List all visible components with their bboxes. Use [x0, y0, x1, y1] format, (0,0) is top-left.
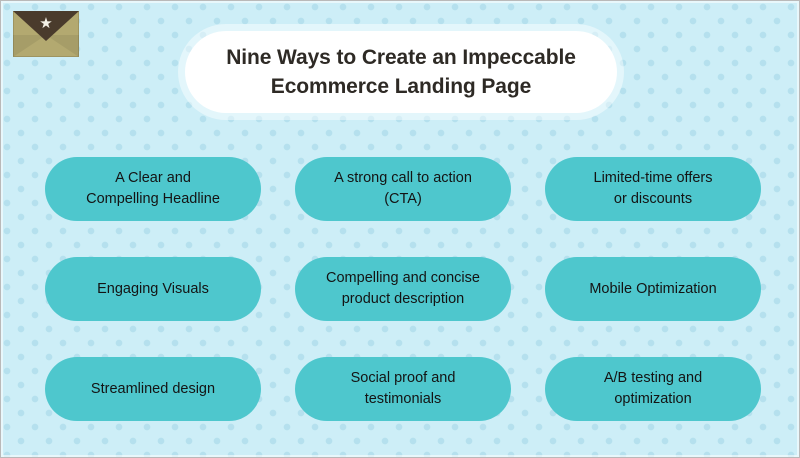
item-card-text: A/B testing and optimization: [604, 368, 702, 410]
infographic-canvas: ★ Nine Ways to Create an Impeccable Ecom…: [0, 0, 800, 458]
item-card-social-proof-testimonials[interactable]: Social proof and testimonials: [295, 357, 511, 421]
star-icon: ★: [13, 16, 79, 31]
item-line-1: A strong call to action: [334, 168, 472, 189]
title-pill: Nine Ways to Create an Impeccable Ecomme…: [185, 31, 617, 113]
item-card-engaging-visuals[interactable]: Engaging Visuals: [45, 257, 261, 321]
item-line-1: A Clear and: [86, 168, 220, 189]
envelope-with-star-icon: ★: [13, 11, 79, 57]
item-line-1: Social proof and: [351, 368, 456, 389]
item-line-2: (CTA): [334, 189, 472, 210]
title-line2: Ecommerce Landing Page: [271, 75, 531, 98]
title-emphasis: Nine Ways: [226, 46, 331, 69]
item-card-text: Streamlined design: [91, 379, 215, 400]
page-title: Nine Ways to Create an Impeccable Ecomme…: [226, 43, 576, 101]
item-line-2: product description: [326, 289, 480, 310]
item-line-1: A/B testing and: [604, 368, 702, 389]
item-line-1: Compelling and concise: [326, 268, 480, 289]
item-card-mobile-optimization[interactable]: Mobile Optimization: [545, 257, 761, 321]
item-line-2: testimonials: [351, 389, 456, 410]
item-card-text: A strong call to action (CTA): [334, 168, 472, 210]
item-card-text: Compelling and concise product descripti…: [326, 268, 480, 310]
title-rest-line1: to Create an Impeccable: [331, 46, 576, 69]
item-card-strong-call-to-action[interactable]: A strong call to action (CTA): [295, 157, 511, 221]
item-card-product-description[interactable]: Compelling and concise product descripti…: [295, 257, 511, 321]
item-line-2: or discounts: [594, 189, 713, 210]
item-line-1: Streamlined design: [91, 379, 215, 400]
items-grid: A Clear and Compelling Headline A strong…: [45, 157, 761, 421]
item-card-text: Limited-time offers or discounts: [594, 168, 713, 210]
item-line-2: Compelling Headline: [86, 189, 220, 210]
item-line-1: Limited-time offers: [594, 168, 713, 189]
item-card-text: Mobile Optimization: [589, 279, 716, 300]
item-line-2: optimization: [604, 389, 702, 410]
item-card-ab-testing-optimization[interactable]: A/B testing and optimization: [545, 357, 761, 421]
item-card-text: Engaging Visuals: [97, 279, 209, 300]
item-card-clear-compelling-headline[interactable]: A Clear and Compelling Headline: [45, 157, 261, 221]
item-card-text: A Clear and Compelling Headline: [86, 168, 220, 210]
item-line-1: Mobile Optimization: [589, 279, 716, 300]
item-card-text: Social proof and testimonials: [351, 368, 456, 410]
item-line-1: Engaging Visuals: [97, 279, 209, 300]
item-card-limited-time-offers[interactable]: Limited-time offers or discounts: [545, 157, 761, 221]
item-card-streamlined-design[interactable]: Streamlined design: [45, 357, 261, 421]
